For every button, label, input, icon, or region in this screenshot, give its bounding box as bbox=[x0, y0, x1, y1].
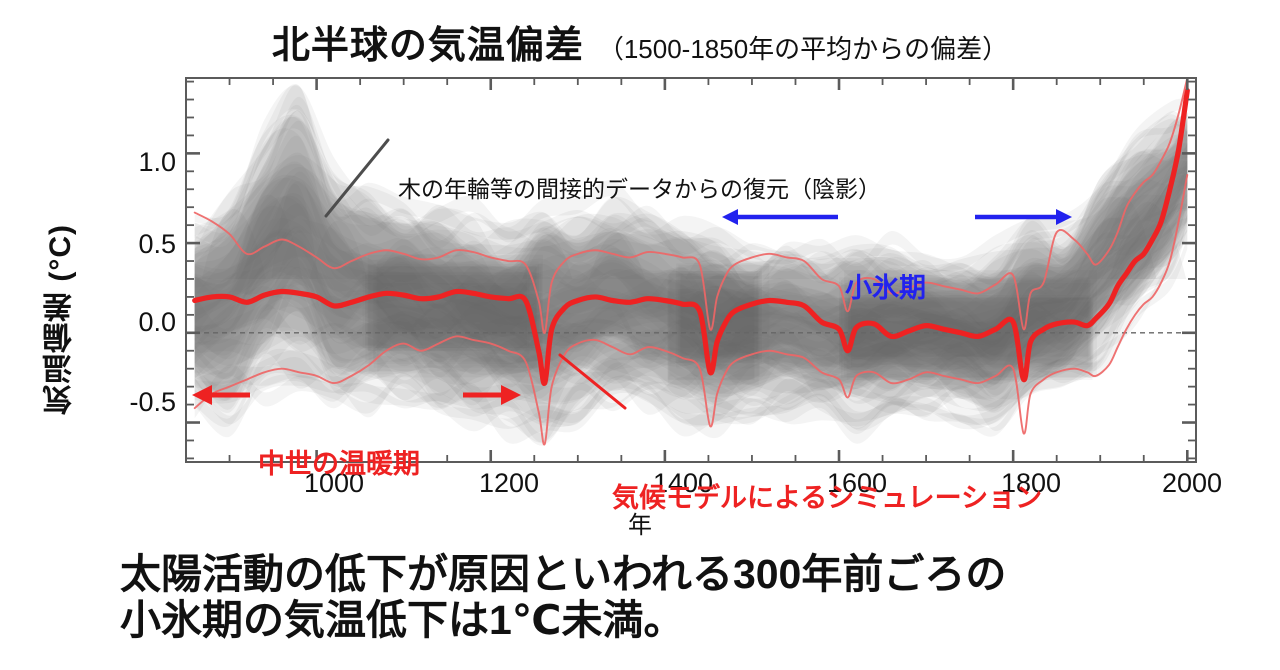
temperature-anomaly-chart: 気温偏差 (°C) 1.0 0.5 0.0 -0.5 1000 1200 140… bbox=[0, 70, 1280, 540]
plot-canvas bbox=[0, 70, 1280, 540]
x-tick-label-2: 1200 bbox=[479, 468, 539, 499]
caption-line-2: 小氷期の気温低下は1℃未満。 bbox=[120, 598, 1220, 644]
annotation-little-ice-age: 小氷期 bbox=[845, 266, 926, 305]
x-tick-label-6: 2000 bbox=[1162, 468, 1222, 499]
title-subtitle-text: （1500-1850年の平均からの偏差） bbox=[598, 29, 1008, 66]
page-title: 北半球の気温偏差 （1500-1850年の平均からの偏差） bbox=[0, 14, 1280, 69]
caption-block: 太陽活動の低下が原因といわれる300年前ごろの 小氷期の気温低下は1℃未満。 bbox=[120, 552, 1220, 644]
annotation-proxy-reconstruction: 木の年輪等の間接的データからの復元（陰影） bbox=[398, 170, 881, 204]
caption-line-1: 太陽活動の低下が原因といわれる300年前ごろの bbox=[120, 552, 1220, 598]
annotation-model-simulation: 気候モデルによるシミュレーション bbox=[612, 476, 1042, 515]
title-main-text: 北半球の気温偏差 bbox=[272, 14, 584, 69]
annotation-medieval-warm-period: 中世の温暖期 bbox=[258, 442, 420, 481]
